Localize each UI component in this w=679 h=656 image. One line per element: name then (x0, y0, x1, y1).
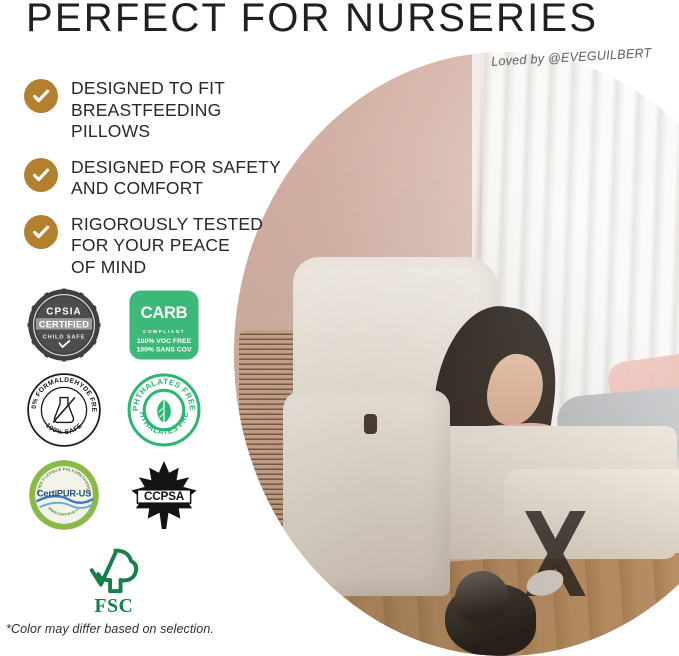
page-title: PERFECT FOR NURSERIES (26, 0, 598, 41)
color-disclaimer: *Color may differ based on selection. (6, 622, 214, 636)
ccpsa-title: CCPSA (144, 489, 185, 503)
cpsia-banner: CERTIFIED (39, 319, 89, 329)
formaldehyde-arc-bottom: 100% SAFE (44, 421, 84, 435)
certification-badges: CPSIA CERTIFIED CHILD SAFE CARB PHASE 2 … (14, 282, 214, 622)
list-item: RIGOROUSLY TESTED FOR YOUR PEACE OF MIND (24, 214, 289, 279)
badge-row: 100% FORMALDEHYDE FREE 100% SAFE (14, 367, 214, 452)
photo-background (234, 52, 679, 656)
ccpsa-maple-leaf-badge-icon: CCPSA (114, 452, 214, 537)
photo-vignette (234, 52, 679, 656)
certipur-title: CertiPUR-US (37, 488, 91, 498)
check-icon (24, 79, 58, 113)
check-icon (24, 215, 58, 249)
carb-line2: 100% SANS COV (136, 346, 191, 353)
feature-text: DESIGNED TO FIT BREASTFEEDING PILLOWS (71, 78, 289, 143)
cpsia-subtitle: CHILD SAFE (43, 334, 86, 340)
cpsia-title: CPSIA (46, 306, 82, 317)
carb-phase-2-badge-icon: CARB PHASE 2 COMPLIANT 100% VOC FREE 100… (114, 282, 214, 367)
fsc-tree-badge-icon: FSC (14, 537, 214, 622)
feature-text: RIGOROUSLY TESTED FOR YOUR PEACE OF MIND (71, 214, 263, 279)
feature-text: DESIGNED FOR SAFETY AND COMFORT (71, 157, 281, 200)
cpsia-certified-badge-icon: CPSIA CERTIFIED CHILD SAFE (14, 282, 114, 367)
list-item: DESIGNED FOR SAFETY AND COMFORT (24, 157, 289, 200)
badge-row: CPSIA CERTIFIED CHILD SAFE CARB PHASE 2 … (14, 282, 214, 367)
carb-line1: 100% VOC FREE (137, 338, 192, 345)
lifestyle-photo (234, 52, 679, 656)
carb-title: CARB (141, 302, 188, 321)
formaldehyde-free-badge-icon: 100% FORMALDEHYDE FREE 100% SAFE (14, 367, 114, 452)
list-item: DESIGNED TO FIT BREASTFEEDING PILLOWS (24, 78, 289, 143)
feature-list: DESIGNED TO FIT BREASTFEEDING PILLOWS DE… (24, 78, 289, 292)
check-icon (24, 158, 58, 192)
fsc-title: FSC (94, 596, 133, 616)
badge-row: CERTIFIED FLEXIBLE POLYURETHANE FOAM WWW… (14, 452, 214, 537)
certipur-us-badge-icon: CERTIFIED FLEXIBLE POLYURETHANE FOAM WWW… (14, 452, 114, 537)
badge-row: FSC (14, 537, 214, 622)
phthalates-free-badge-icon: PHTHALATES FREE PHTHALATES FREE (114, 367, 214, 452)
product-feature-panel: PERFECT FOR NURSERIES Loved by @EVEGUILB… (0, 0, 679, 656)
carb-compliant: COMPLIANT (143, 328, 185, 333)
